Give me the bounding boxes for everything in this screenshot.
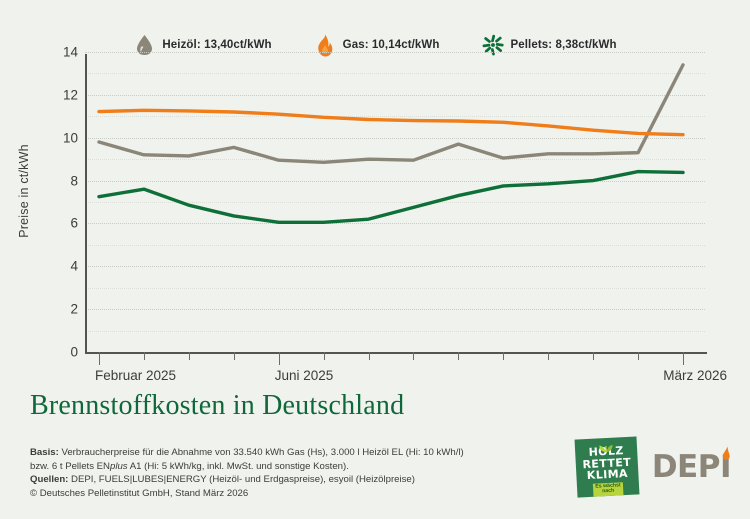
x-tick [189, 352, 190, 360]
y-tick-label: 10 [40, 130, 78, 145]
x-tick [593, 352, 594, 360]
footer-basis-text2b: A1 (Hi: 5 kWh/kg, inkl. MwSt. und sonsti… [128, 461, 349, 472]
series-lines [85, 52, 705, 352]
x-axis-line [85, 352, 707, 354]
y-tick-label: 2 [40, 302, 78, 317]
x-tick [279, 352, 280, 365]
y-tick-label: 0 [40, 345, 78, 360]
x-tick [234, 352, 235, 360]
y-tick-label: 14 [40, 45, 78, 60]
chart-area: Preise in ct/kWh 02468101214 Februar 202… [0, 52, 750, 372]
series-line-pellets [99, 172, 683, 223]
x-tick [99, 352, 100, 365]
footer-basis-text2a: bzw. 6 t Pellets EN [30, 461, 110, 472]
y-tick-label: 12 [40, 87, 78, 102]
footer-notes: Basis: Verbraucherpreise für die Abnahme… [30, 446, 575, 500]
x-tick [324, 352, 325, 360]
y-axis-line [85, 54, 87, 352]
y-tick-label: 8 [40, 173, 78, 188]
footer-basis-line1: Basis: Verbraucherpreise für die Abnahme… [30, 446, 575, 460]
legend-label-gas: Gas: 10,14ct/kWh [343, 39, 440, 51]
page-title: Brennstoffkosten in Deutschland [30, 390, 404, 422]
x-tick [413, 352, 414, 360]
plot-area [85, 52, 705, 352]
depi-flame-icon [721, 446, 734, 469]
x-tick-label: Juni 2025 [275, 368, 334, 383]
legend-label-heizoel: Heizöl: 13,40ct/kWh [162, 39, 271, 51]
holz-logo-line3: KLIMA [586, 468, 628, 482]
depi-logo-wordmark: DEPI [652, 452, 731, 483]
footer-basis-label: Basis: [30, 447, 59, 458]
footer-quellen-line: Quellen: DEPI, FUELS|LUBES|ENERGY (Heizö… [30, 473, 575, 487]
depi-logo: DEPI [652, 452, 734, 483]
x-tick [638, 352, 639, 360]
footer-basis-line2: bzw. 6 t Pellets ENplus A1 (Hi: 5 kWh/kg… [30, 460, 575, 474]
x-tick-label: März 2026 [663, 368, 727, 383]
footer-quellen-text: DEPI, FUELS|LUBES|ENERGY (Heizöl- und Er… [68, 474, 415, 485]
x-tick [458, 352, 459, 360]
series-line-gas [99, 110, 683, 134]
logo-group: HOLZ RETTET KLIMA Es wächst nach DEPI [576, 438, 734, 496]
footer-basis-plus: plus [110, 461, 128, 472]
holz-logo-tagline-2: nach [602, 488, 614, 495]
x-tick [144, 352, 145, 360]
footer-basis-text1: Verbraucherpreise für die Abnahme von 33… [59, 447, 464, 458]
y-tick-label: 6 [40, 216, 78, 231]
x-tick [369, 352, 370, 360]
leaf-icon [594, 439, 617, 458]
y-tick-label: 4 [40, 259, 78, 274]
x-tick [503, 352, 504, 360]
footer-copyright: © Deutsches Pelletinstitut GmbH, Stand M… [30, 487, 575, 501]
y-axis-ticks: 02468101214 [30, 52, 78, 352]
holz-rettet-klima-logo: HOLZ RETTET KLIMA Es wächst nach [574, 436, 639, 497]
x-tick [548, 352, 549, 360]
footer-quellen-label: Quellen: [30, 474, 68, 485]
y-axis-label: Preise in ct/kWh [17, 101, 31, 281]
x-tick [683, 352, 684, 365]
holz-logo-tagline: Es wächst nach [593, 482, 623, 497]
series-line-heizöl [99, 65, 683, 163]
x-tick-label: Februar 2025 [95, 368, 176, 383]
legend-label-pellets: Pellets: 8,38ct/kWh [511, 39, 617, 51]
